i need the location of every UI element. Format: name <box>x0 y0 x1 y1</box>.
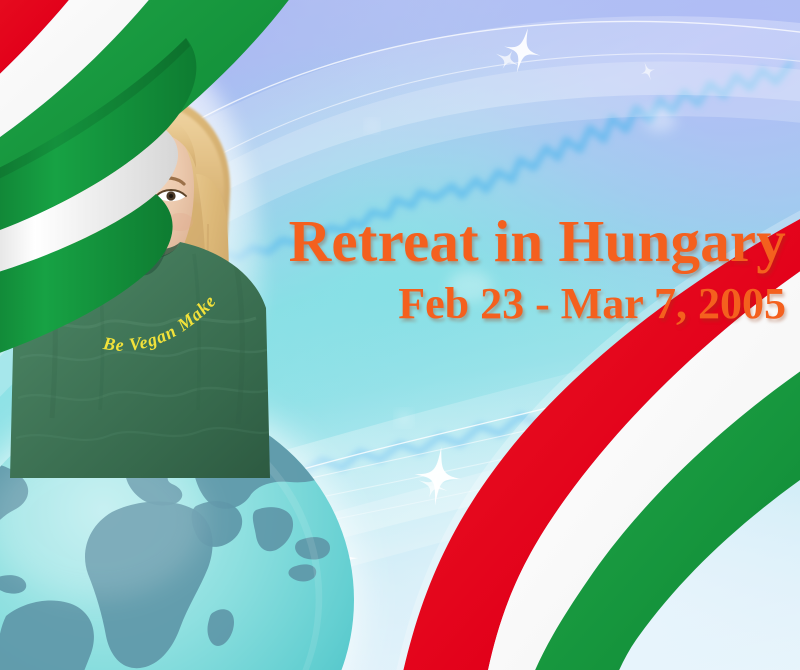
ribbon-bottom-right-bands <box>386 180 800 670</box>
poster-canvas: Be Vegan Make Peace <box>0 0 800 670</box>
hungary-flag-ribbon-bottom-right <box>0 0 800 670</box>
